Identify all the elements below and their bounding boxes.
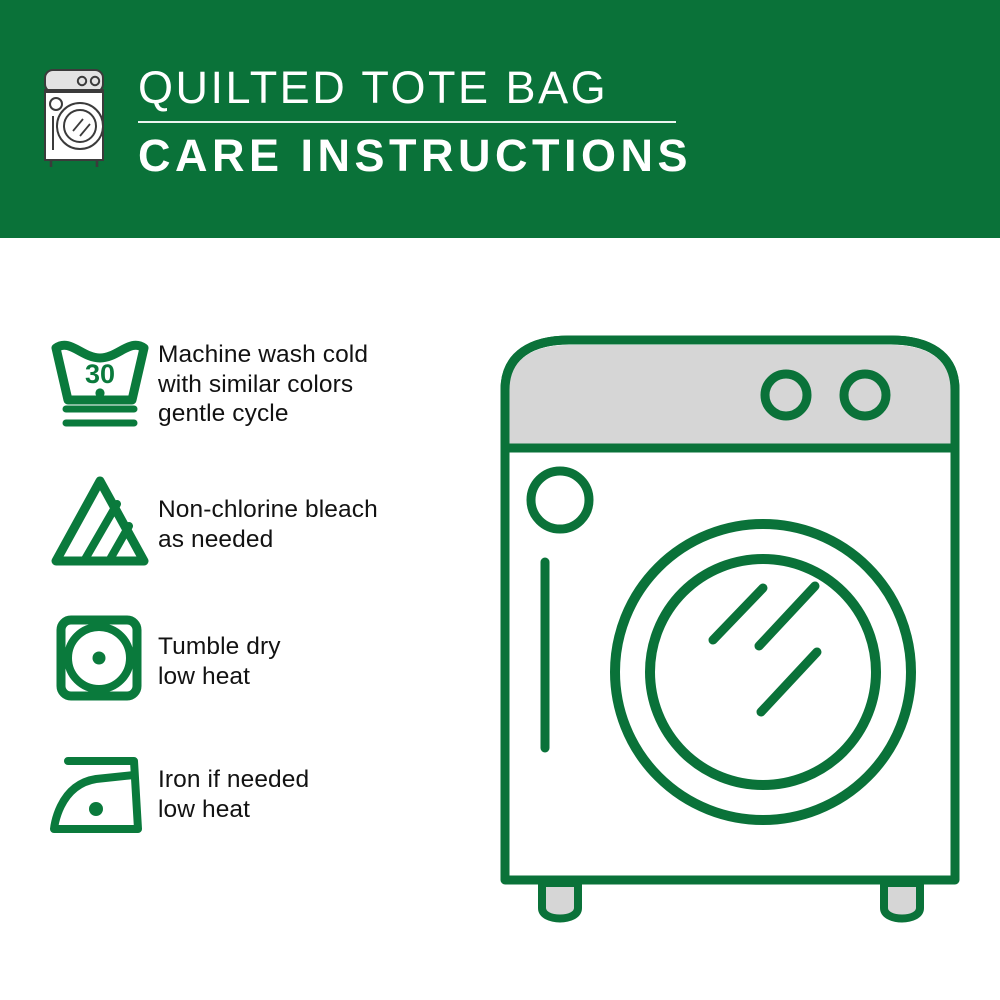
care-text-bleach: Non-chlorine bleach as needed — [158, 473, 378, 554]
care-row-bleach: Non-chlorine bleach as needed — [48, 473, 478, 569]
page-title: QUILTED TOTE BAG — [138, 62, 692, 114]
care-line: Machine wash cold — [158, 340, 368, 370]
care-line: low heat — [158, 662, 281, 692]
non-chlorine-bleach-triangle-icon — [48, 473, 158, 569]
iron-low-heat-icon — [48, 747, 158, 843]
care-line: with similar colors — [158, 370, 368, 400]
front-load-washing-machine-illustration — [495, 330, 965, 940]
care-line: Iron if needed — [158, 765, 309, 795]
care-line: as needed — [158, 525, 378, 555]
washing-machine-icon — [40, 66, 114, 170]
header-content: QUILTED TOTE BAG CARE INSTRUCTIONS — [40, 62, 692, 183]
tumble-dry-low-heat-icon — [48, 610, 158, 706]
care-instructions-list: 30 Machine wash cold with similar colors… — [48, 336, 478, 884]
page-subtitle: CARE INSTRUCTIONS — [138, 129, 692, 183]
care-line: Non-chlorine bleach — [158, 495, 378, 525]
care-row-machine-wash: 30 Machine wash cold with similar colors… — [48, 336, 478, 432]
care-line: gentle cycle — [158, 399, 368, 429]
care-text-iron: Iron if needed low heat — [158, 747, 309, 824]
machine-leg-right — [884, 883, 920, 919]
care-line: Tumble dry — [158, 632, 281, 662]
care-text-tumble-dry: Tumble dry low heat — [158, 610, 281, 691]
wash-temperature-value: 30 — [85, 359, 115, 389]
header-title-group: QUILTED TOTE BAG CARE INSTRUCTIONS — [138, 62, 692, 183]
title-divider — [138, 121, 676, 123]
header-band: QUILTED TOTE BAG CARE INSTRUCTIONS — [0, 0, 1000, 238]
care-line: low heat — [158, 795, 309, 825]
machine-wash-30-gentle-icon: 30 — [48, 336, 158, 432]
care-text-machine-wash: Machine wash cold with similar colors ge… — [158, 336, 368, 429]
care-row-tumble-dry: Tumble dry low heat — [48, 610, 478, 706]
machine-leg-left — [542, 883, 578, 919]
care-row-iron: Iron if needed low heat — [48, 747, 478, 843]
